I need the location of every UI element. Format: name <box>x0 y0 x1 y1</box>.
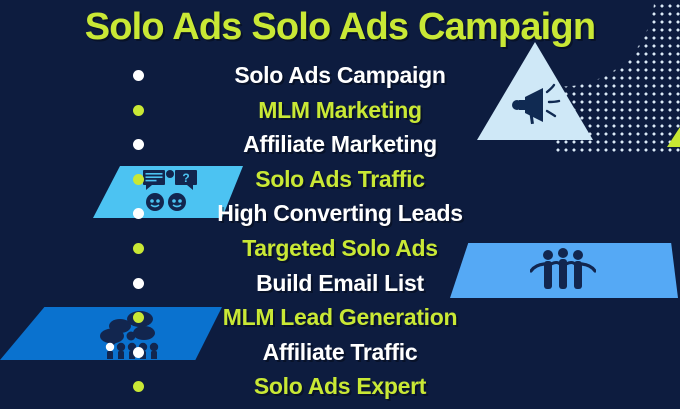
list-item-label: Affiliate Traffic <box>0 335 680 369</box>
list-item-label: High Converting Leads <box>0 196 680 230</box>
page-title: Solo Ads Solo Ads Campaign <box>0 6 680 49</box>
list-item-label: Targeted Solo Ads <box>0 231 680 265</box>
list-item: MLM Lead Generation <box>0 300 680 335</box>
list-item-label: Affiliate Marketing <box>0 127 680 161</box>
list-item: Targeted Solo Ads <box>0 231 680 266</box>
list-item: MLM Marketing <box>0 93 680 128</box>
list-item: Solo Ads Traffic <box>0 162 680 197</box>
list-item: Affiliate Marketing <box>0 127 680 162</box>
list-item-label: Solo Ads Expert <box>0 369 680 403</box>
list-item: Solo Ads Campaign <box>0 58 680 93</box>
list-item: High Converting Leads <box>0 196 680 231</box>
list-item: Build Email List <box>0 266 680 301</box>
list-item-label: Solo Ads Campaign <box>0 58 680 92</box>
list-item-label: MLM Lead Generation <box>0 300 680 334</box>
campaign-banner: ? <box>0 0 680 409</box>
list-item: Solo Ads Expert <box>0 369 680 404</box>
list-item-label: Solo Ads Traffic <box>0 162 680 196</box>
list-item: Affiliate Traffic <box>0 335 680 370</box>
service-list: Solo Ads Campaign MLM Marketing Affiliat… <box>0 58 680 404</box>
list-item-label: MLM Marketing <box>0 93 680 127</box>
list-item-label: Build Email List <box>0 266 680 300</box>
